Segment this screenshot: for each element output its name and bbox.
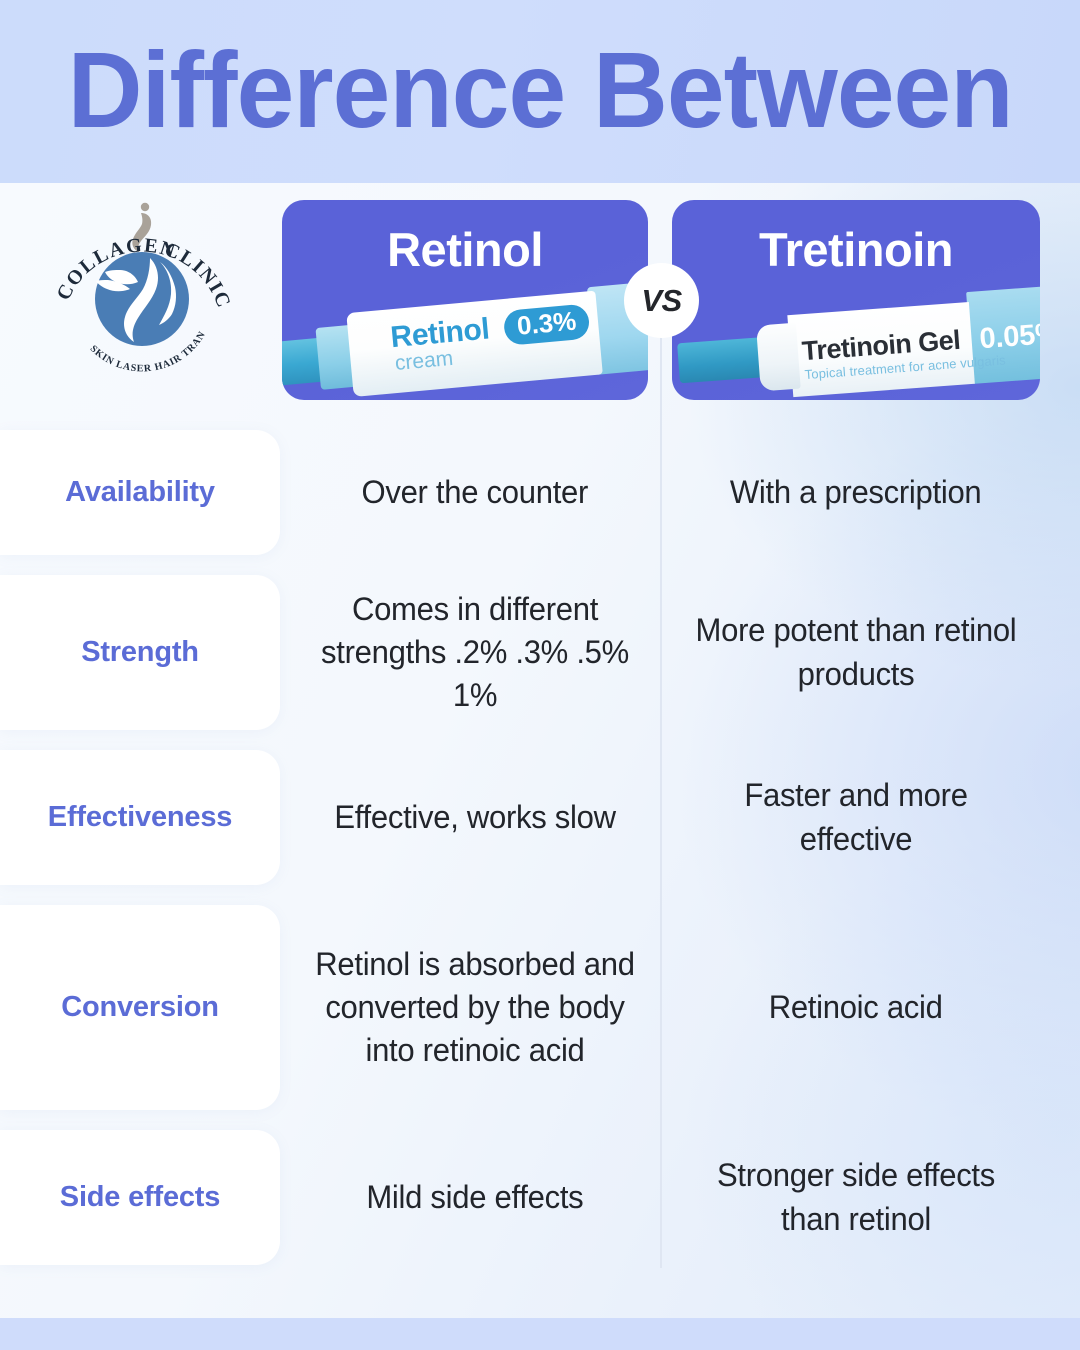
table-row: Effectiveness Effective, works slow Fast… xyxy=(0,750,1080,885)
cell-tretinoin-side-effects: Stronger side effects than retinol xyxy=(666,1130,1046,1265)
brand-logo: COLLAGEN CLINICS SKIN LASER HAIR TRANSPL… xyxy=(42,196,242,396)
table-row: Availability Over the counter With a pre… xyxy=(0,430,1080,555)
infographic-page: Difference Between xyxy=(0,0,1080,1350)
row-label-text: Effectiveness xyxy=(48,801,232,834)
product-title-tretinoin: Tretinoin xyxy=(672,226,1040,273)
row-label-strength: Strength xyxy=(0,575,280,730)
product-title-retinol: Retinol xyxy=(282,226,648,273)
cell-retinol-effectiveness: Effective, works slow xyxy=(292,750,658,885)
cell-text: Comes in different strengths .2% .3% .5%… xyxy=(313,588,637,718)
cell-retinol-strength: Comes in different strengths .2% .3% .5%… xyxy=(292,575,658,730)
table-row: Conversion Retinol is absorbed and conve… xyxy=(0,905,1080,1110)
vs-badge: VS xyxy=(624,263,699,338)
cell-tretinoin-effectiveness: Faster and more effective xyxy=(666,750,1046,885)
cell-tretinoin-conversion: Retinoic acid xyxy=(666,905,1046,1110)
retinol-tube-icon: Retinol cream 0.3% xyxy=(282,277,648,400)
table-row: Side effects Mild side effects Stronger … xyxy=(0,1130,1080,1265)
cell-text: Retinol is absorbed and converted by the… xyxy=(313,943,637,1073)
product-card-retinol: Retinol Retinol cream 0.3% xyxy=(282,200,648,400)
column-divider xyxy=(660,300,662,1268)
row-label-effectiveness: Effectiveness xyxy=(0,750,280,885)
cell-text: Stronger side effects than retinol xyxy=(687,1154,1025,1240)
row-label-text: Side effects xyxy=(60,1181,220,1214)
cell-tretinoin-strength: More potent than retinol products xyxy=(666,575,1046,730)
cell-text: More potent than retinol products xyxy=(687,609,1025,695)
cell-tretinoin-availability: With a prescription xyxy=(666,430,1046,555)
cell-text: Retinoic acid xyxy=(769,986,943,1029)
tretinoin-tube-percent: 0.05% xyxy=(978,317,1040,356)
header-band: Difference Between xyxy=(0,0,1080,183)
row-label-conversion: Conversion xyxy=(0,905,280,1110)
cell-text: With a prescription xyxy=(730,471,982,514)
collagen-clinics-logo-icon: COLLAGEN CLINICS SKIN LASER HAIR TRANSPL… xyxy=(42,196,242,396)
product-card-tretinoin: Tretinoin Tretinoin Gel Topical treatmen… xyxy=(672,200,1040,400)
row-label-availability: Availability xyxy=(0,430,280,555)
vs-badge-label: VS xyxy=(641,283,681,319)
cell-retinol-side-effects: Mild side effects xyxy=(292,1130,658,1265)
cell-retinol-availability: Over the counter xyxy=(292,430,658,555)
row-label-text: Strength xyxy=(81,636,199,669)
cell-retinol-conversion: Retinol is absorbed and converted by the… xyxy=(292,905,658,1110)
row-label-text: Conversion xyxy=(61,991,219,1024)
tretinoin-tube-icon: Tretinoin Gel Topical treatment for acne… xyxy=(672,279,1040,400)
cell-text: Faster and more effective xyxy=(687,774,1025,860)
cell-text: Mild side effects xyxy=(366,1176,583,1219)
cell-text: Effective, works slow xyxy=(334,796,615,839)
row-label-text: Availability xyxy=(65,476,215,509)
row-label-side-effects: Side effects xyxy=(0,1130,280,1265)
table-row: Strength Comes in different strengths .2… xyxy=(0,575,1080,730)
footer-band xyxy=(0,1318,1080,1350)
cell-text: Over the counter xyxy=(362,471,589,514)
page-title: Difference Between xyxy=(68,36,1013,144)
